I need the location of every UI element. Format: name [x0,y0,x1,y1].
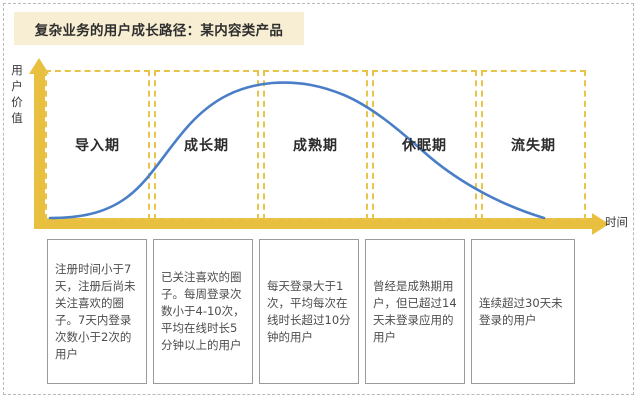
description-text-3: 每天登录大于1次，平均每次在线时长超过10分钟的用户 [267,278,351,346]
stage-box-5[interactable]: 流失期 [481,70,586,220]
stage-label-1: 导入期 [75,135,120,155]
stage-label-3: 成熟期 [293,135,338,155]
stage-box-1[interactable]: 导入期 [45,70,150,220]
description-box-4[interactable]: 曾经是成熟期用户，但已超过14天未登录应用的用户 [365,239,465,384]
stage-box-4[interactable]: 休眠期 [372,70,477,220]
description-boxes-container: 注册时间小于7天，注册后尚未关注喜欢的圈子。7天内登录次数小于2次的用户 已关注… [45,239,597,384]
title-banner: 复杂业务的用户成长路径：某内容类产品 [14,12,304,45]
description-box-5[interactable]: 连续超过30天未登录的用户 [471,239,575,384]
diagram-canvas: 复杂业务的用户成长路径：某内容类产品 用户价值 时间 导入期 成长期 成熟期 休… [0,0,640,405]
description-box-2[interactable]: 已关注喜欢的圈子。每周登录次数小于4-10次，平均在线时长5分钟以上的用户 [153,239,253,384]
description-box-1[interactable]: 注册时间小于7天，注册后尚未关注喜欢的圈子。7天内登录次数小于2次的用户 [47,239,147,384]
description-text-5: 连续超过30天未登录的用户 [479,295,567,329]
stage-boxes-container: 导入期 成长期 成熟期 休眠期 流失期 [45,70,597,220]
page-title: 复杂业务的用户成长路径：某内容类产品 [35,19,283,39]
stage-label-4: 休眠期 [402,135,447,155]
description-box-3[interactable]: 每天登录大于1次，平均每次在线时长超过10分钟的用户 [259,239,359,384]
description-text-2: 已关注喜欢的圈子。每周登录次数小于4-10次，平均在线时长5分钟以上的用户 [161,269,245,354]
stage-box-2[interactable]: 成长期 [154,70,259,220]
y-axis-label: 用户价值 [6,62,28,126]
description-text-4: 曾经是成熟期用户，但已超过14天未登录应用的用户 [373,278,457,346]
y-axis-shaft [34,72,45,224]
description-text-1: 注册时间小于7天，注册后尚未关注喜欢的圈子。7天内登录次数小于2次的用户 [55,261,139,363]
stage-box-3[interactable]: 成熟期 [263,70,368,220]
stage-label-2: 成长期 [184,135,229,155]
stage-label-5: 流失期 [511,135,556,155]
x-axis-label: 时间 [605,214,628,230]
